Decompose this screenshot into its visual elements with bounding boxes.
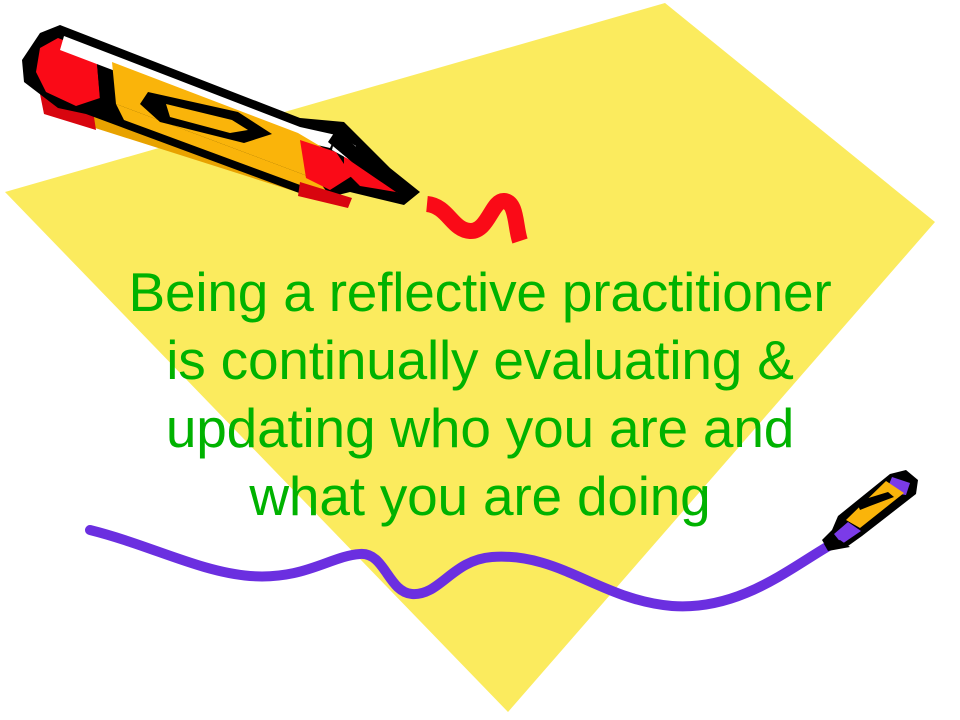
small-pen-layer (0, 0, 960, 720)
small-pen-clipart (822, 470, 918, 551)
presentation-slide: Being a reflective practitioner is conti… (0, 0, 960, 720)
